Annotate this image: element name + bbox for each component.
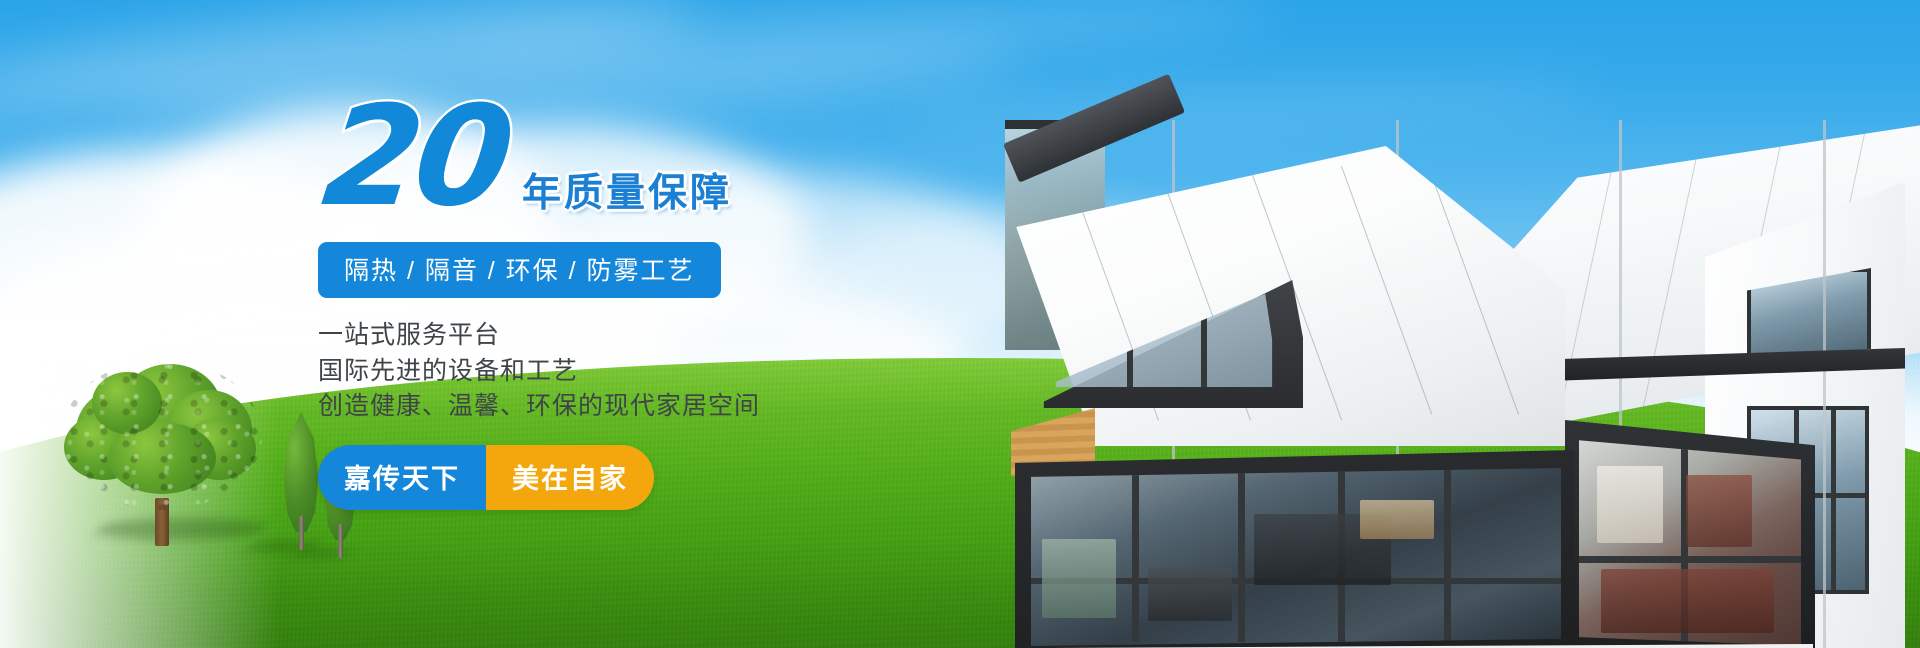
description-block: 一站式服务平台 国际先进的设备和工艺 创造健康、温馨、环保的现代家居空间 [318, 318, 958, 425]
cypress-trunk [299, 516, 304, 550]
promotional-banner: 20 20 年质量保障 隔热 / 隔音 / 环保 / 防雾工艺 一站式服务平台 … [0, 0, 1920, 648]
headline-group: 20 20 年质量保障 [318, 96, 958, 228]
modern-glass-sunroom-conservatory [1005, 120, 1920, 648]
slogan-right[interactable]: 美在自家 [486, 445, 654, 510]
leaf-texture [62, 360, 262, 510]
front-glass-wall [1031, 468, 1561, 646]
description-line-1: 一站式服务平台 [318, 318, 958, 354]
feature-pill: 隔热 / 隔音 / 环保 / 防雾工艺 [318, 242, 721, 298]
headline-number: 20 [318, 88, 515, 226]
slogan-left[interactable]: 嘉传天下 [318, 445, 486, 510]
cypress-trunk [338, 524, 343, 558]
description-line-3: 创造健康、温馨、环保的现代家居空间 [318, 389, 958, 425]
headline-suffix: 年质量保障 [522, 162, 732, 218]
broadleaf-tree-icon [62, 360, 262, 530]
side-glass-wall [1579, 436, 1801, 648]
slogan-pill-group: 嘉传天下 美在自家 [318, 445, 654, 510]
feature-pill-text: 隔热 / 隔音 / 环保 / 防雾工艺 [344, 257, 695, 285]
tree-canopy [62, 360, 262, 510]
description-line-2: 国际先进的设备和工艺 [318, 354, 958, 390]
banner-content: 20 20 年质量保障 隔热 / 隔音 / 环保 / 防雾工艺 一站式服务平台 … [318, 96, 958, 510]
